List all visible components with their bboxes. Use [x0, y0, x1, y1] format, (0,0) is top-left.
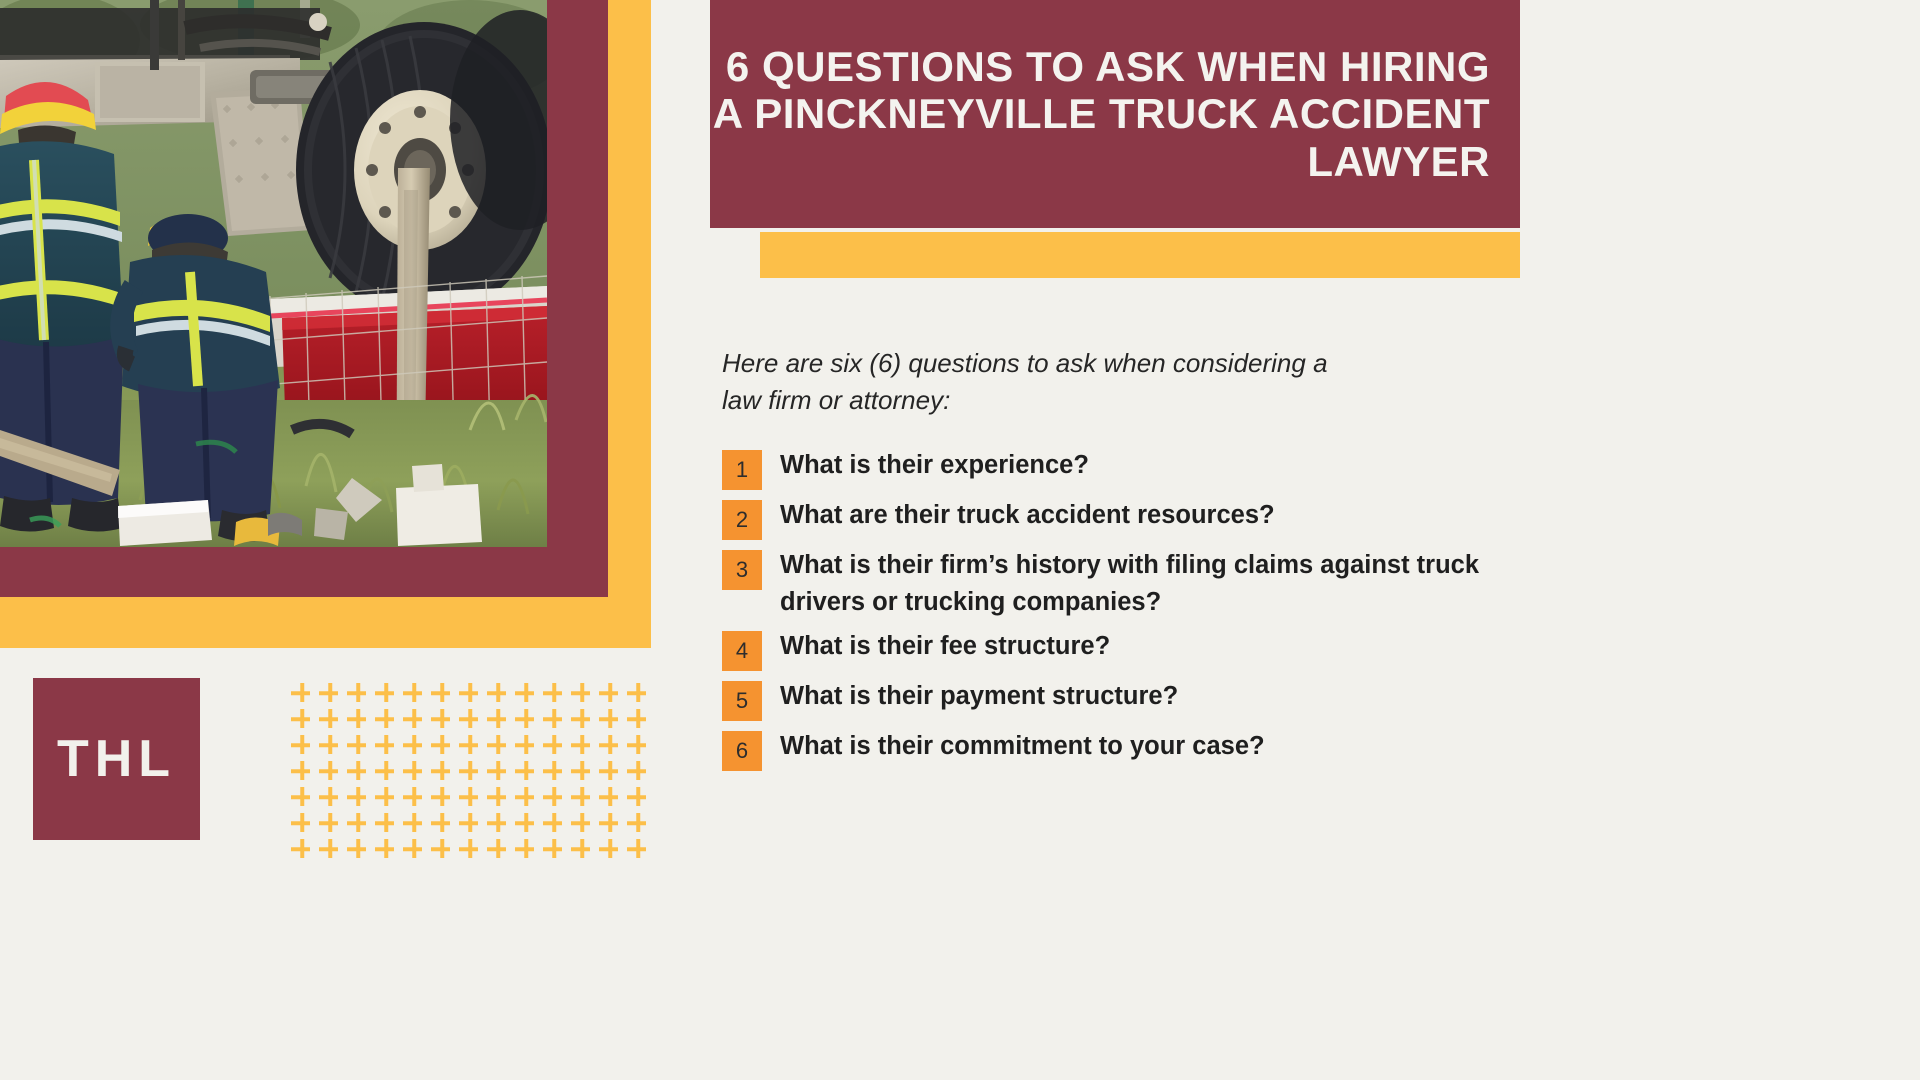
plus-icon	[288, 784, 316, 810]
plus-icon	[400, 758, 428, 784]
plus-icon	[484, 758, 512, 784]
plus-icon	[624, 732, 652, 758]
plus-icon	[484, 680, 512, 706]
plus-icon	[428, 680, 456, 706]
questions-list: 1 What is their experience? 2 What are t…	[722, 447, 1512, 778]
plus-icon	[400, 706, 428, 732]
plus-icon	[596, 784, 624, 810]
plus-icon	[624, 784, 652, 810]
plus-icon	[372, 758, 400, 784]
plus-icon	[624, 810, 652, 836]
question-text: What is their commitment to your case?	[780, 728, 1265, 765]
plus-icon	[596, 810, 624, 836]
yellow-accent-bar	[760, 232, 1520, 278]
plus-icon	[288, 758, 316, 784]
plus-icon	[512, 758, 540, 784]
plus-icon	[484, 732, 512, 758]
plus-icon	[540, 784, 568, 810]
plus-icon	[400, 836, 428, 862]
title-banner: 6 QUESTIONS TO ASK WHEN HIRING A PINCKNE…	[710, 0, 1520, 228]
plus-icon	[624, 680, 652, 706]
truck-accident-photo	[0, 0, 547, 547]
plus-icon	[316, 836, 344, 862]
plus-icon	[456, 680, 484, 706]
plus-icon	[596, 680, 624, 706]
plus-icon	[344, 836, 372, 862]
plus-icon	[624, 758, 652, 784]
plus-icon	[288, 732, 316, 758]
plus-icon	[568, 836, 596, 862]
list-item: 6 What is their commitment to your case?	[722, 728, 1512, 771]
plus-icon	[568, 810, 596, 836]
plus-icon	[484, 836, 512, 862]
plus-icon	[596, 732, 624, 758]
question-number-badge: 3	[722, 550, 762, 590]
plus-icon	[428, 732, 456, 758]
plus-icon	[568, 680, 596, 706]
plus-icon	[372, 836, 400, 862]
plus-icon	[316, 706, 344, 732]
plus-icon	[540, 758, 568, 784]
question-text: What is their fee structure?	[780, 628, 1110, 665]
question-number-badge: 2	[722, 500, 762, 540]
list-item: 4 What is their fee structure?	[722, 628, 1512, 671]
question-text: What is their experience?	[780, 447, 1089, 484]
plus-icon	[316, 810, 344, 836]
question-text: What is their firm’s history with filing…	[780, 547, 1490, 621]
plus-icon	[540, 732, 568, 758]
plus-icon	[316, 732, 344, 758]
plus-icon	[456, 810, 484, 836]
plus-icon	[512, 836, 540, 862]
plus-icon	[512, 680, 540, 706]
intro-paragraph: Here are six (6) questions to ask when c…	[722, 345, 1362, 419]
plus-icon	[456, 758, 484, 784]
right-content-panel: 6 QUESTIONS TO ASK WHEN HIRING A PINCKNE…	[710, 0, 1920, 1080]
plus-icon	[344, 784, 372, 810]
plus-icon	[372, 784, 400, 810]
plus-icon	[512, 732, 540, 758]
plus-icon	[428, 706, 456, 732]
plus-icon	[624, 706, 652, 732]
plus-icon	[344, 680, 372, 706]
page-title: 6 QUESTIONS TO ASK WHEN HIRING A PINCKNE…	[710, 43, 1520, 184]
plus-icon	[316, 680, 344, 706]
plus-icon	[596, 836, 624, 862]
plus-icon	[400, 732, 428, 758]
question-text: What is their payment structure?	[780, 678, 1178, 715]
plus-icon	[484, 810, 512, 836]
plus-icon	[624, 836, 652, 862]
plus-icon	[428, 810, 456, 836]
plus-icon	[512, 784, 540, 810]
plus-icon	[568, 784, 596, 810]
plus-icon	[456, 836, 484, 862]
question-number-badge: 5	[722, 681, 762, 721]
plus-pattern-decoration	[288, 680, 652, 862]
plus-icon	[288, 836, 316, 862]
plus-icon	[372, 732, 400, 758]
plus-icon	[428, 784, 456, 810]
plus-icon	[372, 810, 400, 836]
plus-icon	[344, 758, 372, 784]
plus-icon	[568, 706, 596, 732]
plus-icon	[288, 706, 316, 732]
thl-logo-text: THL	[57, 733, 176, 785]
plus-icon	[512, 706, 540, 732]
plus-icon	[596, 706, 624, 732]
left-composition: THL	[0, 0, 660, 880]
plus-icon	[400, 784, 428, 810]
plus-icon	[344, 732, 372, 758]
plus-icon	[288, 680, 316, 706]
plus-icon	[540, 706, 568, 732]
plus-icon	[400, 680, 428, 706]
plus-icon	[400, 810, 428, 836]
plus-icon	[344, 706, 372, 732]
plus-icon	[512, 810, 540, 836]
plus-icon	[372, 706, 400, 732]
question-number-badge: 6	[722, 731, 762, 771]
plus-icon	[540, 680, 568, 706]
list-item: 3 What is their firm’s history with fili…	[722, 547, 1512, 621]
plus-icon	[596, 758, 624, 784]
plus-icon	[372, 680, 400, 706]
plus-icon	[316, 784, 344, 810]
plus-icon	[428, 836, 456, 862]
question-text: What are their truck accident resources?	[780, 497, 1275, 534]
question-number-badge: 1	[722, 450, 762, 490]
plus-icon	[540, 836, 568, 862]
plus-icon	[456, 732, 484, 758]
plus-icon	[428, 758, 456, 784]
plus-icon	[456, 784, 484, 810]
plus-icon	[540, 810, 568, 836]
plus-icon	[316, 758, 344, 784]
question-number-badge: 4	[722, 631, 762, 671]
plus-icon	[484, 784, 512, 810]
thl-logo: THL	[33, 678, 200, 840]
plus-icon	[568, 758, 596, 784]
plus-icon	[288, 810, 316, 836]
list-item: 5 What is their payment structure?	[722, 678, 1512, 721]
plus-icon	[344, 810, 372, 836]
list-item: 2 What are their truck accident resource…	[722, 497, 1512, 540]
plus-icon	[456, 706, 484, 732]
list-item: 1 What is their experience?	[722, 447, 1512, 490]
plus-icon	[484, 706, 512, 732]
plus-icon	[568, 732, 596, 758]
